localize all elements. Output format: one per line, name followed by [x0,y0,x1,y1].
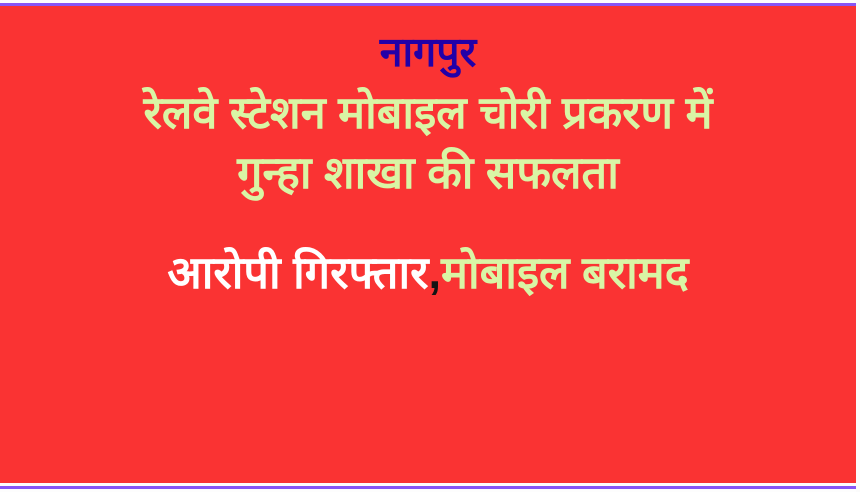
sub-headline-comma: , [429,247,442,298]
right-edge-strip [856,0,860,492]
sub-headline-arrest-text: आरोपी गिरफ्तार [167,247,428,298]
headline-block: नागपुर रेलवे स्टेशन मोबाइल चोरी प्रकरण म… [0,6,856,304]
empty-lower-field [0,358,856,483]
news-banner: नागपुर रेलवे स्टेशन मोबाइल चोरी प्रकरण म… [0,0,860,492]
headline-line-1: रेलवे स्टेशन मोबाइल चोरी प्रकरण में [0,82,856,144]
headline-line-2: गुन्हा शाखा की सफलता [0,142,856,204]
poster-background: नागपुर रेलवे स्टेशन मोबाइल चोरी प्रकरण म… [0,6,856,483]
city-kicker: नागपुर [0,26,856,78]
sub-headline: आरोपी गिरफ्तार,मोबाइल बरामद [0,242,856,304]
sub-headline-recovery-text: मोबाइल बरामद [441,247,689,298]
